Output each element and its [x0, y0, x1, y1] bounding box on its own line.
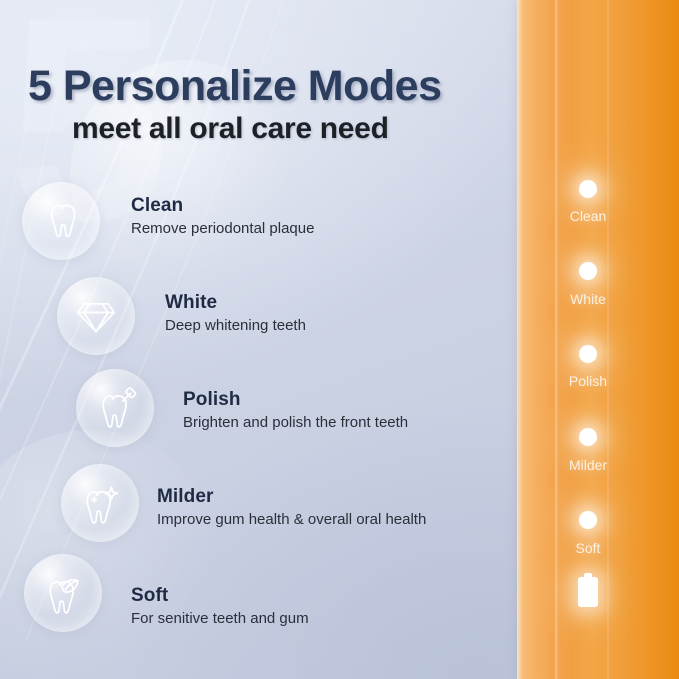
led-label-clean: Clean — [543, 208, 633, 224]
tooth-sparkle-icon — [61, 464, 139, 542]
mode-name: Milder — [157, 486, 214, 508]
mode-description: Deep whitening teeth — [165, 317, 306, 334]
tooth-leaf-icon — [24, 554, 102, 632]
handle-seam — [555, 0, 559, 679]
led-label-polish: Polish — [543, 373, 633, 389]
led-indicator-polish[interactable] — [579, 345, 597, 363]
tooth-icon — [22, 182, 100, 260]
toothbrush-handle: Clean White Polish Milder Soft — [517, 0, 679, 679]
led-indicator-clean[interactable] — [579, 180, 597, 198]
mode-description: Remove periodontal plaque — [131, 220, 314, 237]
page-title: 5 Personalize Modes — [28, 62, 442, 111]
mode-description: Improve gum health & overall oral health — [157, 511, 426, 528]
diamond-icon — [57, 277, 135, 355]
mode-name: White — [165, 292, 217, 314]
led-indicator-milder[interactable] — [579, 428, 597, 446]
led-label-white: White — [543, 291, 633, 307]
led-label-milder: Milder — [543, 457, 633, 473]
mode-name: Polish — [183, 389, 241, 411]
handle-seam — [607, 0, 609, 679]
led-label-soft: Soft — [543, 540, 633, 556]
mode-description: For senitive teeth and gum — [131, 610, 309, 627]
tooth-brush-icon — [76, 369, 154, 447]
mode-name: Clean — [131, 195, 183, 217]
handle-highlight-edge — [517, 0, 523, 679]
led-indicator-soft[interactable] — [579, 511, 597, 529]
mode-name: Soft — [131, 585, 168, 607]
product-infographic: 5 5 Personalize Modes meet all oral care… — [0, 0, 679, 679]
mode-description: Brighten and polish the front teeth — [183, 414, 408, 431]
page-subtitle: meet all oral care need — [72, 112, 389, 146]
led-indicator-white[interactable] — [579, 262, 597, 280]
battery-icon — [578, 577, 598, 607]
